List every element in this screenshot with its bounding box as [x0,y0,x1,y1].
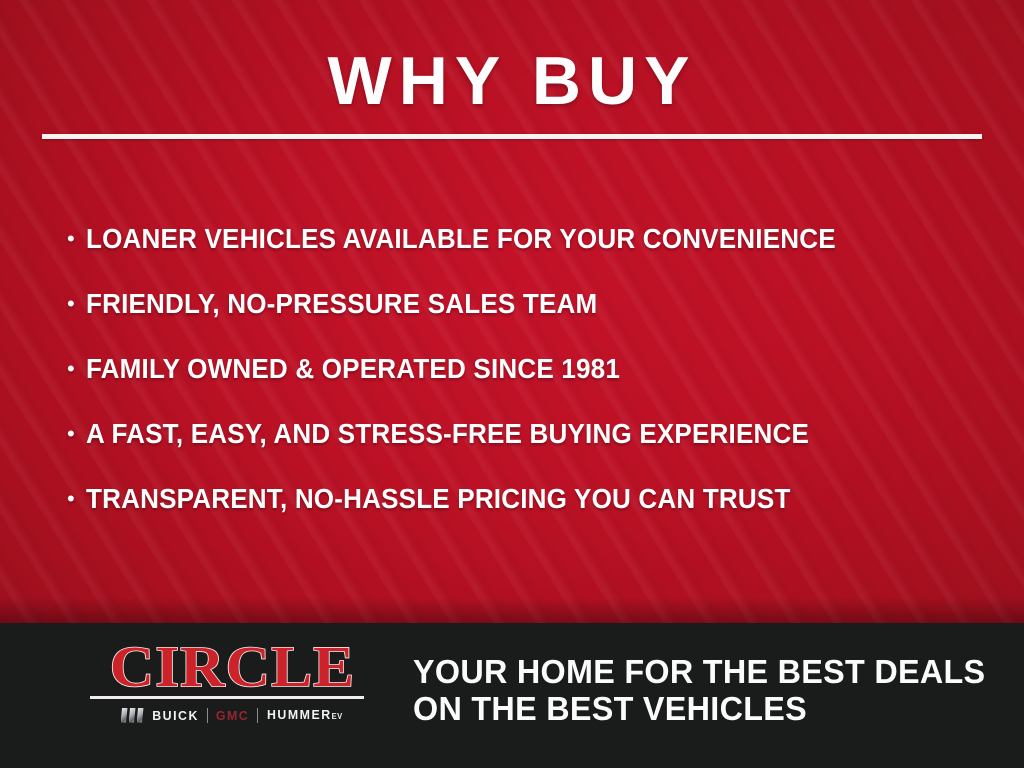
list-item-label: LOANER VEHICLES AVAILABLE FOR YOUR CONVE… [86,222,836,256]
page-title: WHY BUY [0,47,1024,115]
bullet-dot-icon: • [64,352,86,386]
logo-wordmark: CIRCLE [81,640,383,694]
list-item: • FAMILY OWNED & OPERATED SINCE 1981 [64,352,984,417]
bullet-dot-icon: • [64,222,86,256]
why-buy-slide: WHY BUY • LOANER VEHICLES AVAILABLE FOR … [0,0,1024,768]
benefits-list: • LOANER VEHICLES AVAILABLE FOR YOUR CON… [64,222,984,547]
title-divider [42,134,982,139]
list-item: • FRIENDLY, NO-PRESSURE SALES TEAM [64,287,984,352]
brand-label-hummer-ev: EV [332,712,343,721]
brand-label-hummer-text: HUMMER [267,707,332,722]
footer-tagline-line-1: YOUR HOME FOR THE BEST DEALS [413,653,985,690]
list-item-label: FAMILY OWNED & OPERATED SINCE 1981 [86,352,620,386]
brand-divider [207,708,208,723]
list-item-label: TRANSPARENT, NO-HASSLE PRICING YOU CAN T… [86,482,791,516]
brand-label-gmc: GMC [216,708,249,723]
list-item: • LOANER VEHICLES AVAILABLE FOR YOUR CON… [64,222,984,287]
buick-trishield-icon [121,708,144,723]
bullet-dot-icon: • [64,287,86,321]
list-item-label: FRIENDLY, NO-PRESSURE SALES TEAM [86,287,597,321]
dealership-logo: CIRCLE BUICK GMC HUMMEREV [90,640,375,724]
footer-tagline: YOUR HOME FOR THE BEST DEALS ON THE BEST… [413,653,985,727]
list-item: • A FAST, EASY, AND STRESS-FREE BUYING E… [64,417,984,482]
background-bottom-shadow [0,597,1024,623]
brand-label-hummer: HUMMEREV [267,707,343,724]
brand-lineup: BUICK GMC HUMMEREV [90,706,375,724]
list-item: • TRANSPARENT, NO-HASSLE PRICING YOU CAN… [64,482,984,547]
list-item-label: A FAST, EASY, AND STRESS-FREE BUYING EXP… [86,417,809,451]
bullet-dot-icon: • [64,482,86,516]
brand-label-buick: BUICK [152,708,199,723]
footer-tagline-line-2: ON THE BEST VEHICLES [413,690,985,727]
brand-divider [257,708,258,723]
bullet-dot-icon: • [64,417,86,451]
